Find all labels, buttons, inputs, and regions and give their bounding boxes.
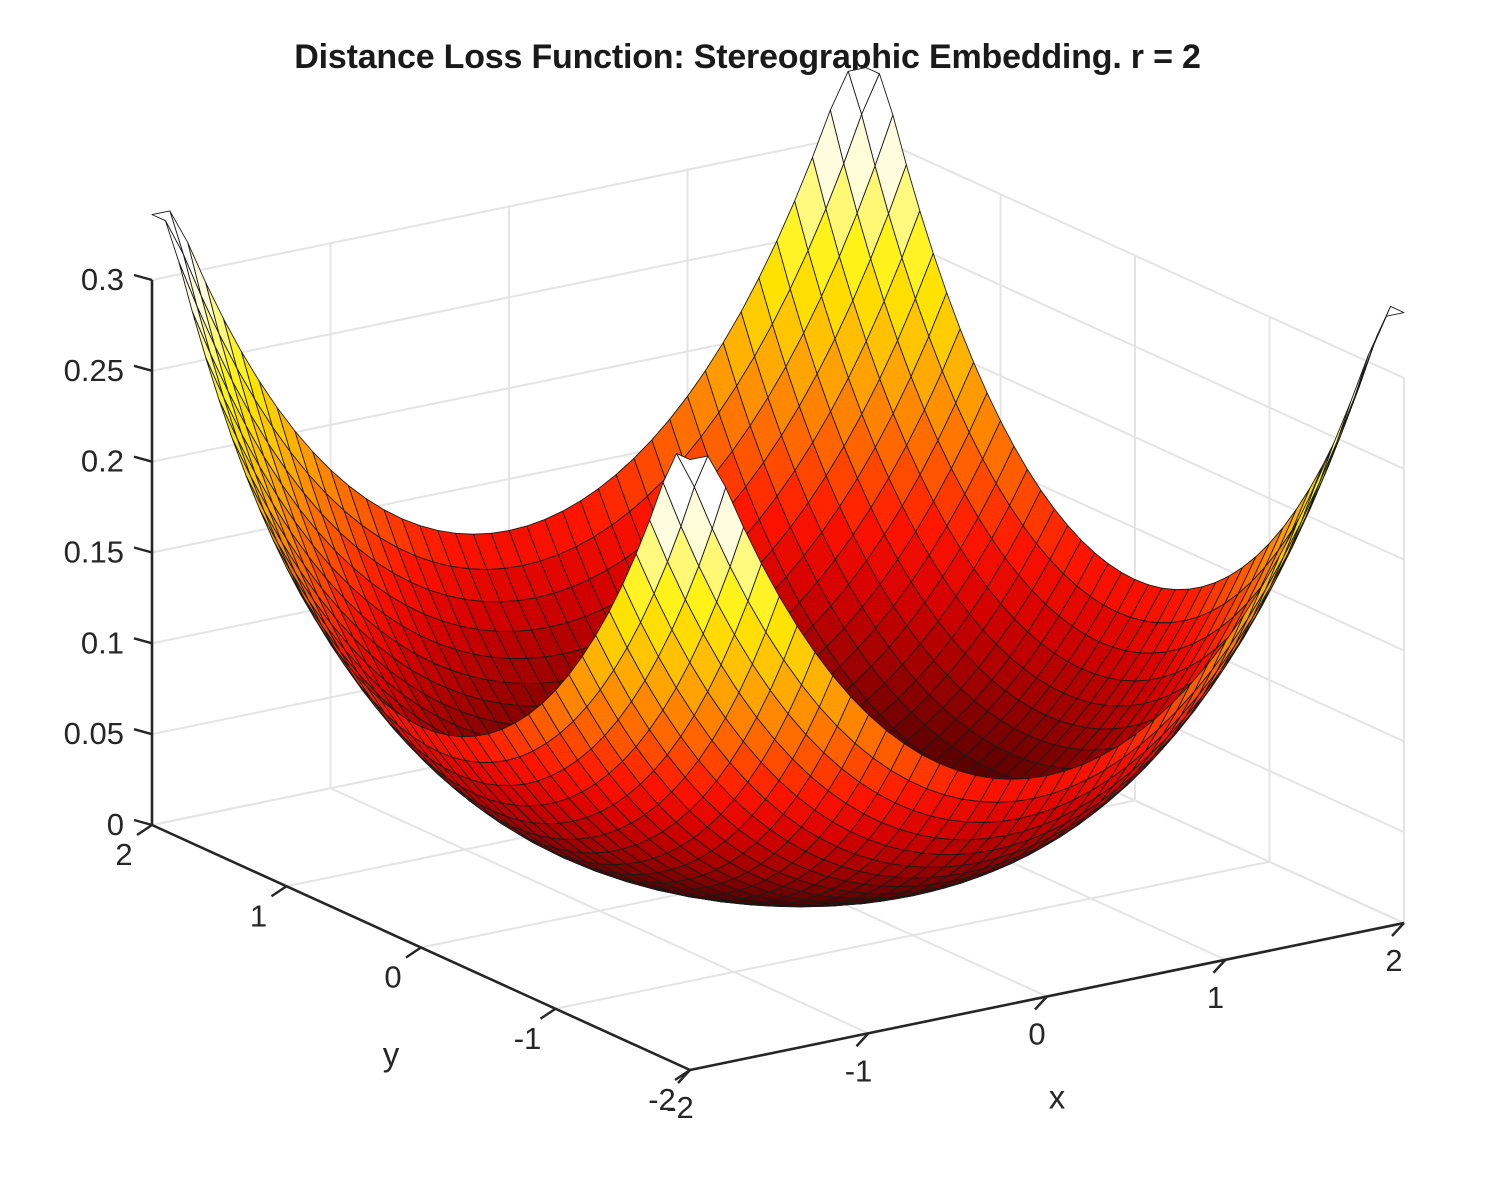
tick-label: -2	[666, 1090, 694, 1125]
tick-label: 0.3	[81, 262, 124, 297]
y-axis-label: y	[383, 1036, 400, 1073]
tick-label: -1	[845, 1053, 873, 1088]
tick-label: 0.05	[64, 716, 124, 751]
tick-label: 0	[384, 960, 401, 995]
surface-plot-axes: 00.050.10.150.20.250.3210-1-2-2-1012 yx	[0, 0, 1495, 1186]
tick-label: 2	[115, 837, 132, 872]
tick-label: 0.1	[81, 625, 124, 660]
tick-label: 0	[1028, 1017, 1045, 1052]
figure-canvas: Distance Loss Function: Stereographic Em…	[0, 0, 1495, 1186]
tick-label: 0.25	[64, 353, 124, 388]
surface-mesh	[152, 68, 1404, 907]
tick-label: 1	[1207, 980, 1224, 1015]
tick-label: 1	[250, 898, 267, 933]
tick-label: 0.2	[81, 444, 124, 479]
tick-label: -1	[514, 1021, 542, 1056]
axis-name-labels: yx	[383, 1036, 1066, 1116]
tick-label: 0.15	[64, 535, 124, 570]
x-axis-label: x	[1049, 1079, 1066, 1116]
tick-label: 2	[1385, 943, 1402, 978]
